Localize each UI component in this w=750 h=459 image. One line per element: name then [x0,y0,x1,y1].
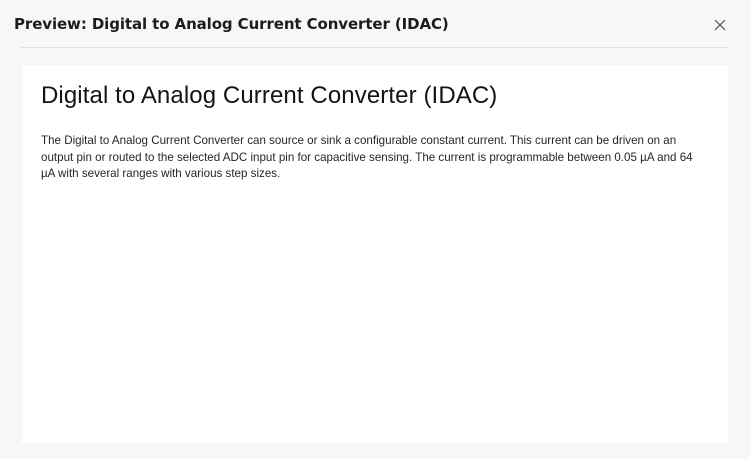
dialog-title: Preview: Digital to Analog Current Conve… [14,15,449,33]
document-heading: Digital to Analog Current Converter (IDA… [41,81,716,111]
close-button[interactable] [711,16,729,34]
document-paragraph: The Digital to Analog Current Converter … [41,133,699,183]
header-divider [20,47,728,48]
preview-dialog: Preview: Digital to Analog Current Conve… [0,0,750,459]
document-body: Digital to Analog Current Converter (IDA… [41,81,716,183]
preview-content-card: Digital to Analog Current Converter (IDA… [22,65,728,443]
dialog-header: Preview: Digital to Analog Current Conve… [0,0,750,48]
close-icon [714,19,726,31]
